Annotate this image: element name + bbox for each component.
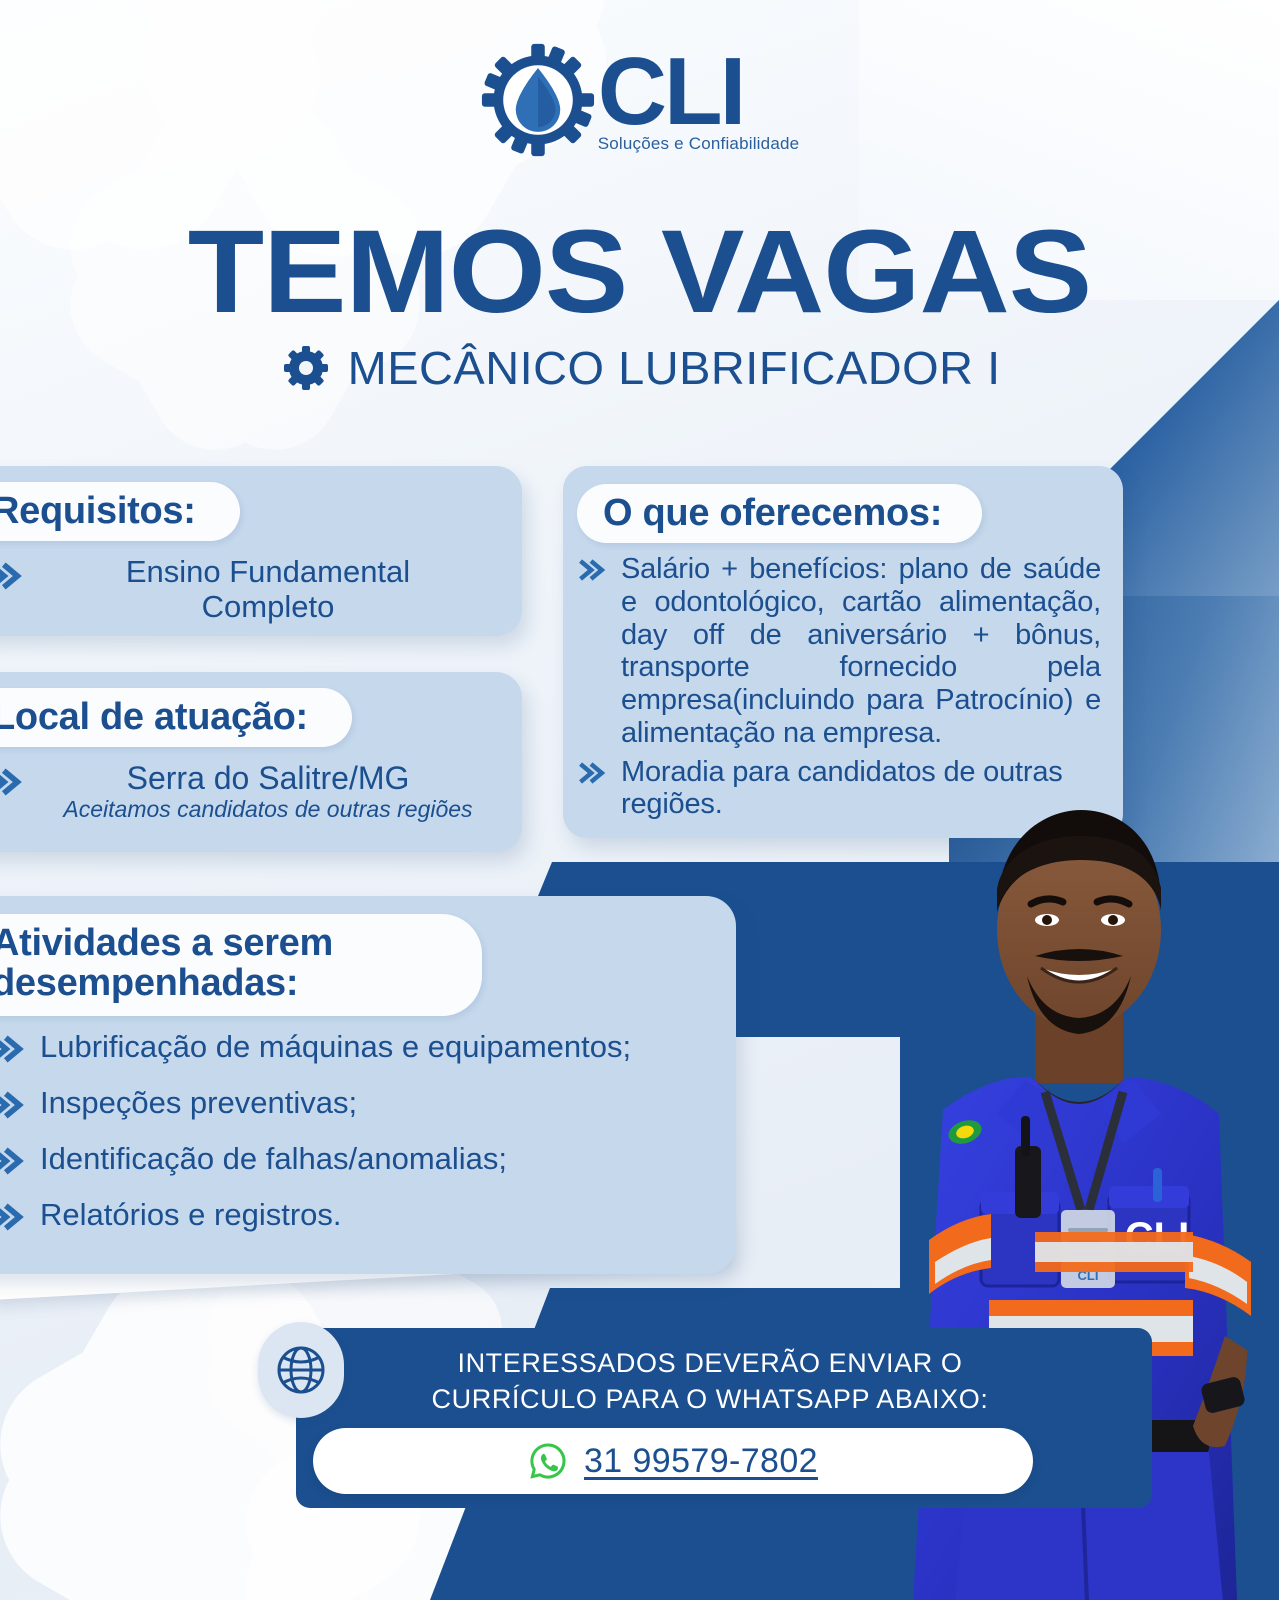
double-chevron-icon	[0, 1198, 26, 1236]
double-chevron-icon	[0, 1142, 26, 1180]
contact-cta: INTERESSADOS DEVERÃO ENVIAR O CURRÍCULO …	[360, 1346, 1060, 1417]
globe-badge	[258, 1322, 344, 1418]
whatsapp-number[interactable]: 31 99579-7802	[584, 1442, 818, 1481]
list-item: Inspeções preventivas;	[0, 1084, 712, 1124]
list-item: Lubrificação de máquinas e equipamentos;	[0, 1028, 712, 1068]
atividade-2: Inspeções preventivas;	[40, 1084, 712, 1121]
job-posting-poster: CLI Soluções e Confiabilidade TEMOS VAGA…	[0, 0, 1279, 1600]
card-atividades-header: Atividades a serem desempenhadas:	[0, 914, 482, 1016]
card-requisitos-header: Requisitos:	[0, 482, 240, 541]
card-atividades: Atividades a serem desempenhadas: Lubrif…	[0, 896, 736, 1274]
card-requisitos: Requisitos: Ensino Fundamental Completo	[0, 466, 522, 636]
job-title-row: MECÂNICO LUBRIFICADOR I	[0, 341, 1279, 395]
atividade-1: Lubrificação de máquinas e equipamentos;	[40, 1028, 712, 1065]
logo-wordmark: CLI	[598, 46, 800, 137]
local-place: Serra do Salitre/MG	[38, 761, 498, 796]
card-requisitos-heading: Requisitos:	[0, 490, 196, 533]
card-local-atuacao: Local de atuação: Serra do Salitre/MG Ac…	[0, 672, 522, 852]
gear-icon	[284, 346, 328, 390]
card-local-heading: Local de atuação:	[0, 696, 308, 739]
local-note: Aceitamos candidatos de outras regiões	[38, 796, 498, 822]
card-atividades-heading: Atividades a serem desempenhadas:	[0, 924, 422, 1004]
whatsapp-contact[interactable]: 31 99579-7802	[313, 1428, 1033, 1494]
list-item: Relatórios e registros.	[0, 1196, 712, 1236]
page-title: TEMOS VAGAS	[0, 218, 1279, 327]
gear-water-drop-icon	[480, 42, 596, 158]
double-chevron-icon	[0, 1030, 26, 1068]
double-chevron-icon	[0, 1086, 26, 1124]
atividade-3: Identificação de falhas/anomalias;	[40, 1140, 712, 1177]
card-local-header: Local de atuação:	[0, 688, 352, 747]
oferecemos-item-1: Salário + benefícios: plano de saúde e o…	[621, 553, 1101, 750]
card-oferecemos-header: O que oferecemos:	[577, 484, 982, 543]
list-item: Ensino Fundamental Completo	[0, 555, 498, 624]
double-chevron-icon	[0, 763, 24, 801]
list-item: Identificação de falhas/anomalias;	[0, 1140, 712, 1180]
job-title: MECÂNICO LUBRIFICADOR I	[348, 341, 1001, 395]
double-chevron-icon	[577, 758, 607, 788]
requisito-line-2: Completo	[38, 590, 498, 625]
double-chevron-icon	[577, 555, 607, 585]
list-item: Salário + benefícios: plano de saúde e o…	[577, 553, 1101, 750]
card-oferecemos-heading: O que oferecemos:	[603, 492, 942, 535]
double-chevron-icon	[0, 557, 24, 595]
headline-block: TEMOS VAGAS MECÂNICO LUBRIFICADOR I	[0, 218, 1279, 395]
whatsapp-icon[interactable]	[528, 1441, 568, 1481]
brand-logo: CLI Soluções e Confiabilidade	[0, 42, 1279, 158]
requisito-line-1: Ensino Fundamental	[38, 555, 498, 590]
list-item: Serra do Salitre/MG Aceitamos candidatos…	[0, 761, 498, 823]
cta-line-1: INTERESSADOS DEVERÃO ENVIAR O	[360, 1346, 1060, 1382]
logo-tagline: Soluções e Confiabilidade	[598, 134, 800, 154]
cta-line-2: CURRÍCULO PARA O WHATSAPP ABAIXO:	[360, 1382, 1060, 1418]
atividade-4: Relatórios e registros.	[40, 1196, 712, 1233]
globe-icon	[273, 1342, 329, 1398]
